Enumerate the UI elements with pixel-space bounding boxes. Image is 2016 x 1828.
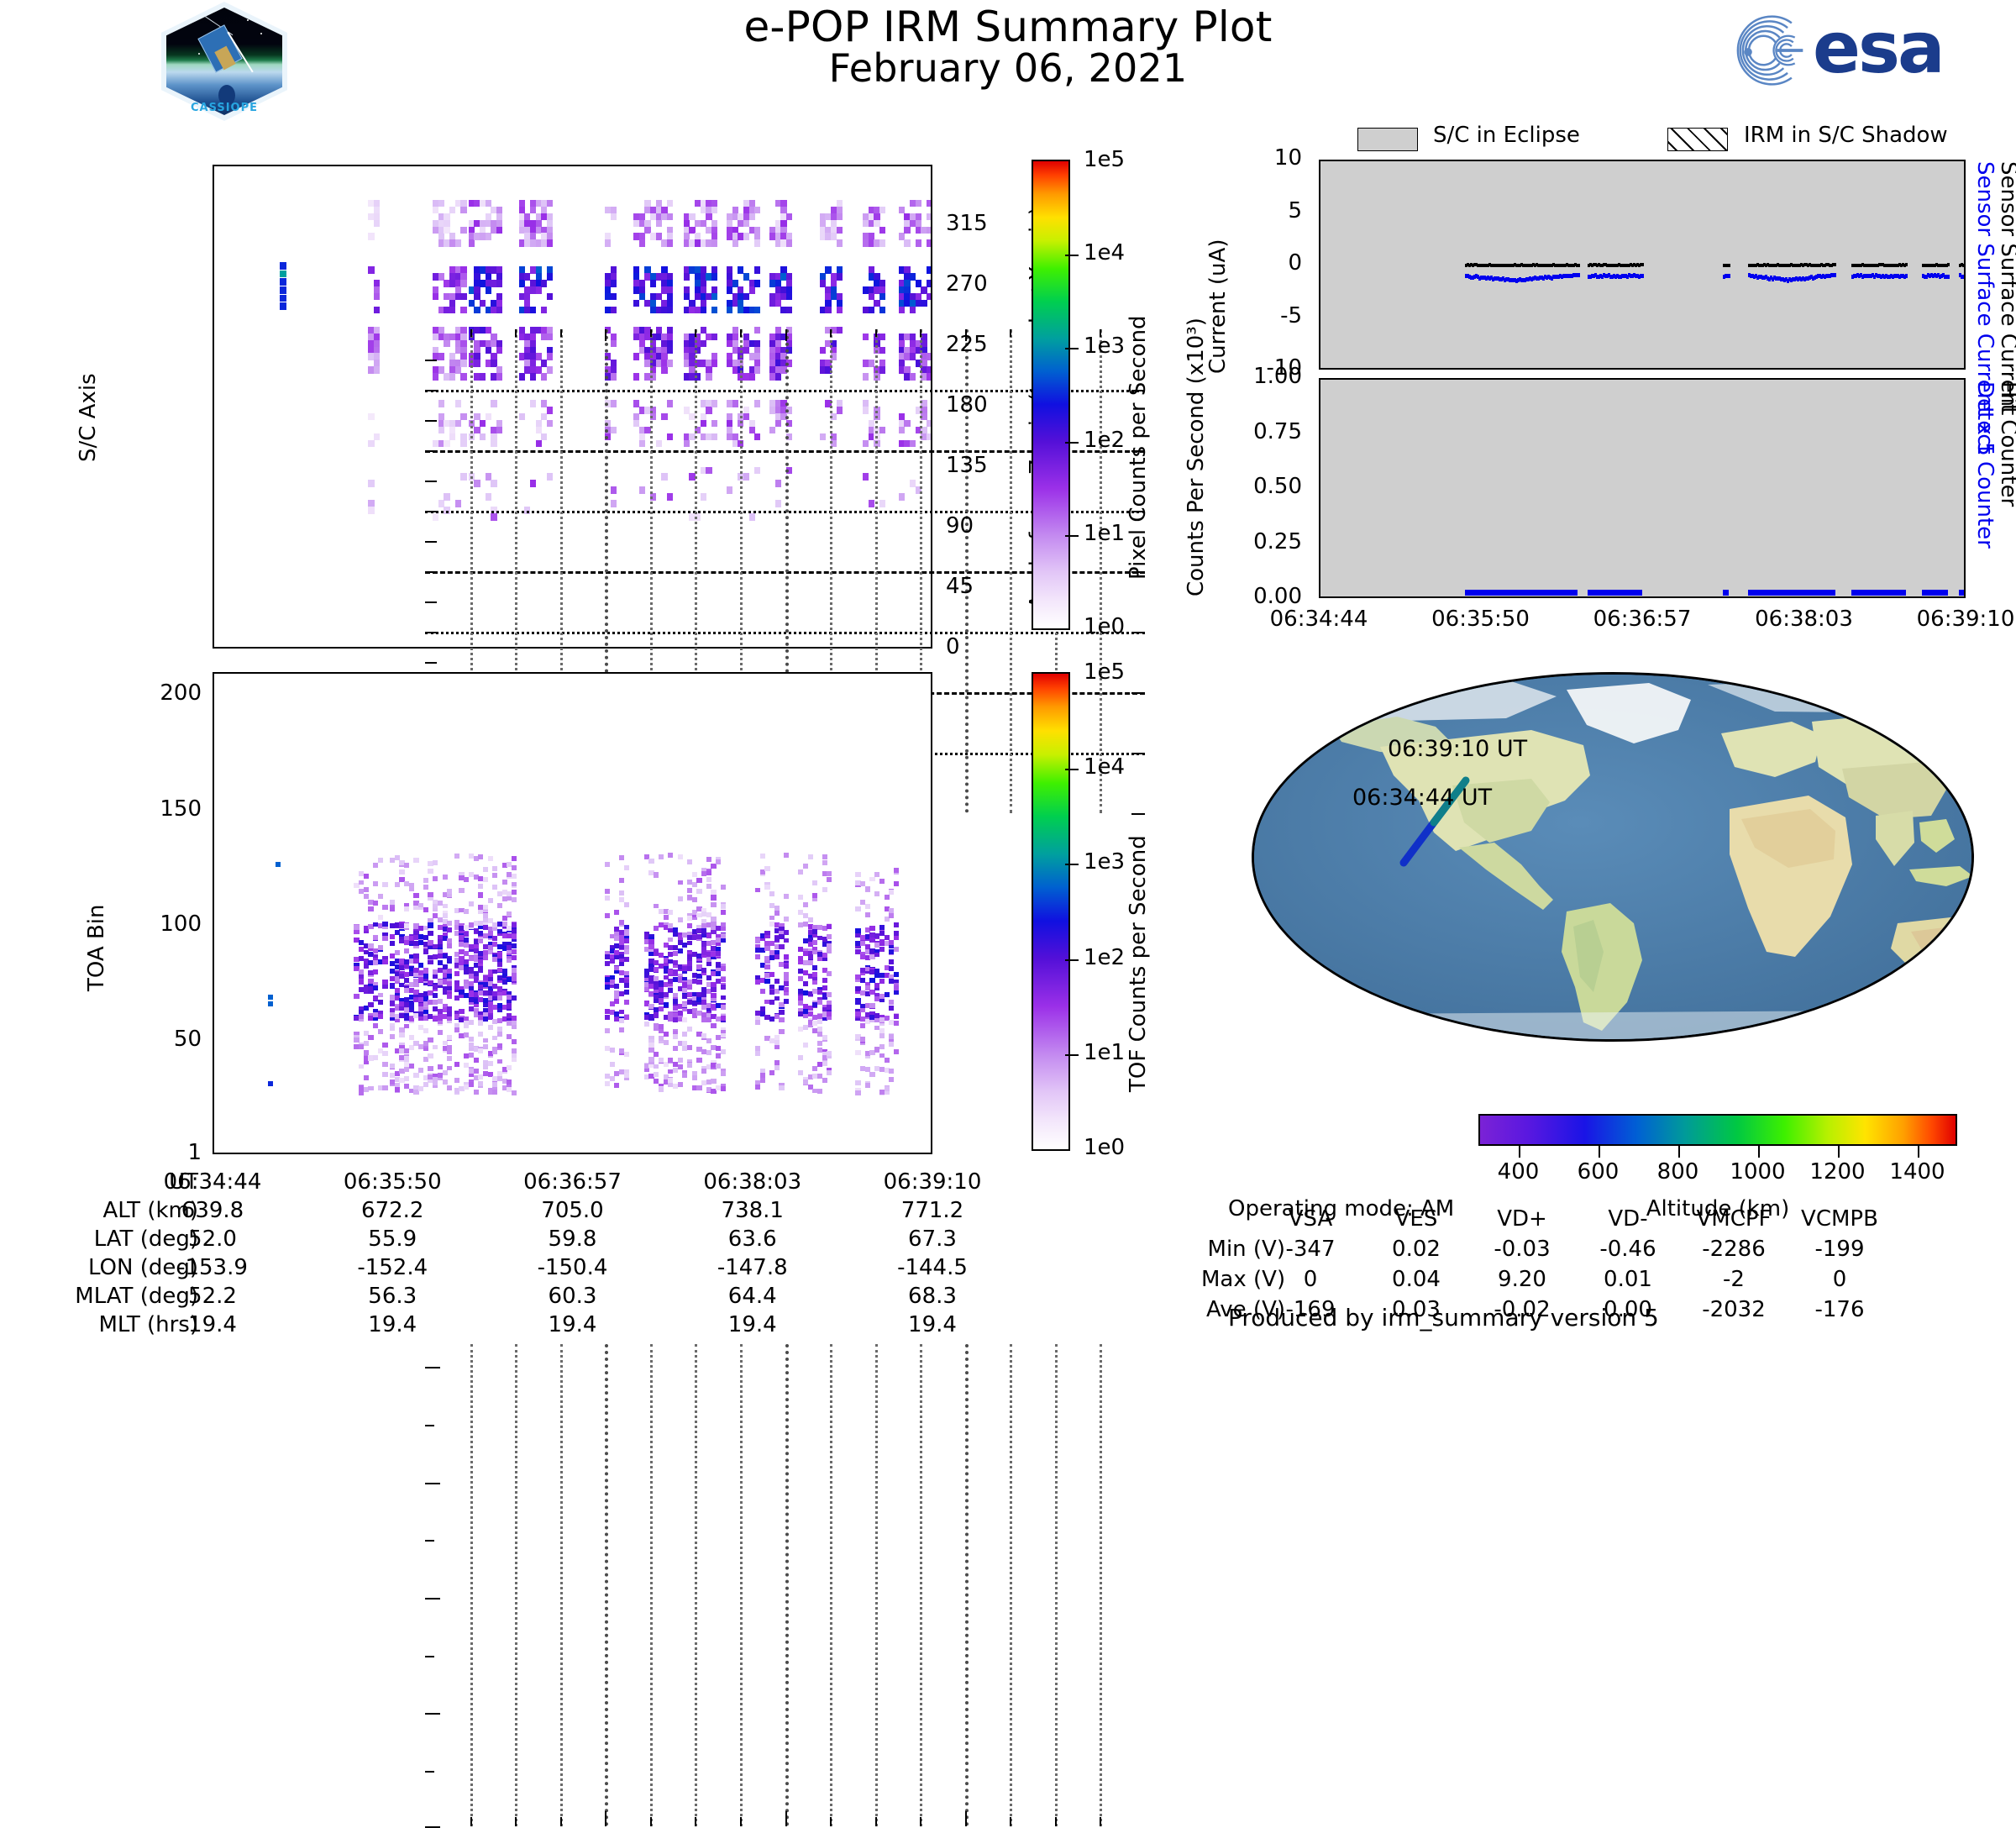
pixel-ytick-right-2: 225 <box>946 332 988 357</box>
ephemeris-cell: 64.4 <box>660 1284 845 1309</box>
colorbar-tick-3: 1e2 <box>1084 945 1125 970</box>
ground-track-map[interactable]: 06:39:10 UT 06:34:44 UT <box>1252 672 1974 1042</box>
ephemeris-cell: 06:36:57 <box>480 1169 665 1195</box>
ephemeris-cell: 63.6 <box>660 1227 845 1252</box>
world-map-svg <box>1254 675 1974 1042</box>
time-tick-4: 06:39:10 <box>1873 607 2016 632</box>
globe-projection <box>1252 672 1974 1042</box>
time-tick-0: 06:34:44 <box>1226 607 1411 632</box>
ephemeris-cell: -150.4 <box>480 1255 665 1280</box>
time-tick-1: 06:35:50 <box>1389 607 1573 632</box>
pixel-spectrogram-grid <box>213 165 932 649</box>
ytick: 0.50 <box>1176 474 1302 499</box>
ephemeris-cell: 55.9 <box>300 1227 485 1252</box>
ephemeris-cell: 06:35:50 <box>300 1169 485 1195</box>
ephemeris-cell: 60.3 <box>480 1284 665 1309</box>
toa-ytick-3: 50 <box>143 1027 202 1052</box>
current-traces <box>1320 161 1964 368</box>
current-black-point <box>1641 263 1644 266</box>
toa-colorbar-label: TOF Counts per Second <box>1126 739 1151 1092</box>
voltage-cell: 0 <box>1772 1267 1907 1292</box>
counts-right-label-blue: Detect Counter <box>1972 381 1998 549</box>
ephemeris-cell: 19.4 <box>480 1312 665 1337</box>
time-tick-3: 06:38:03 <box>1712 607 1897 632</box>
counts-blue-segment <box>1723 590 1730 596</box>
pixel-ytick-right-1: 270 <box>946 271 988 297</box>
toa-ytick-2: 100 <box>143 911 202 937</box>
esa-wordmark: esa <box>1813 12 1943 84</box>
ephemeris-cell: 06:39:10 <box>840 1169 1025 1195</box>
ephemeris-cell: 19.4 <box>300 1312 485 1337</box>
current-blue-point <box>1834 273 1836 277</box>
ephemeris-cell: 59.8 <box>480 1227 665 1252</box>
altitude-tick-5: 1400 <box>1859 1159 1977 1185</box>
title-date: February 06, 2021 <box>521 49 1495 89</box>
ephemeris-cell: 06:38:03 <box>660 1169 845 1195</box>
current-black-point <box>1834 263 1836 266</box>
current-blue-point <box>1641 274 1644 278</box>
ephemeris-cell: 56.3 <box>300 1284 485 1309</box>
page-title: e-POP IRM Summary Plot February 06, 2021 <box>521 5 1495 89</box>
ephemeris-cell: 19.4 <box>840 1312 1025 1337</box>
voltage-col-header: VCMPB <box>1772 1206 1907 1232</box>
ephemeris-cell: 738.1 <box>660 1198 845 1223</box>
counts-blue-segment <box>1959 590 1964 596</box>
current-right-label-black: Sensor Surface Current <box>1996 161 2016 363</box>
ytick: 0.25 <box>1176 529 1302 554</box>
time-tick-2: 06:36:57 <box>1550 607 1735 632</box>
current-black-point <box>1947 263 1950 266</box>
produced-by-text: Produced by irm_summary version 5 <box>1228 1304 1659 1332</box>
toa-ytick-4: 1 <box>143 1140 202 1165</box>
ephemeris-cell: -147.8 <box>660 1255 845 1280</box>
colorbar-tick-0: 1e5 <box>1084 147 1125 172</box>
ephemeris-cell: 52.0 <box>120 1227 305 1252</box>
ephemeris-cell: -144.5 <box>840 1255 1025 1280</box>
colorbar-tick-0: 1e5 <box>1084 659 1125 685</box>
ytick: 0 <box>1176 250 1302 276</box>
ephemeris-cell: 06:34:44 <box>120 1169 305 1195</box>
pixel-ytick-right-5: 90 <box>946 513 974 538</box>
ephemeris-cell: 639.8 <box>120 1198 305 1223</box>
pixel-panel-ylabel: S/C Axis <box>76 277 101 462</box>
map-label-start-time: 06:34:44 UT <box>1352 785 1492 811</box>
eclipse-legend-label: S/C in Eclipse <box>1433 123 1580 148</box>
ephemeris-cell: 19.4 <box>120 1312 305 1337</box>
pixel-ytick-right-6: 45 <box>946 574 974 599</box>
ytick: 0.00 <box>1176 584 1302 609</box>
ephemeris-cell: 67.3 <box>840 1227 1025 1252</box>
voltage-cell: -176 <box>1772 1297 1907 1322</box>
pixel-colorbar[interactable] <box>1032 160 1070 630</box>
current-blue-point <box>1905 274 1908 278</box>
title-main: e-POP IRM Summary Plot <box>521 5 1495 49</box>
shadow-legend-swatch <box>1667 128 1728 151</box>
ephemeris-cell: 705.0 <box>480 1198 665 1223</box>
pixel-ytick-right-0: 315 <box>946 211 988 236</box>
colorbar-tick-1: 1e4 <box>1084 754 1125 780</box>
ephemeris-cell: 52.2 <box>120 1284 305 1309</box>
ephemeris-cell: -152.4 <box>300 1255 485 1280</box>
current-black-point <box>1728 264 1730 267</box>
colorbar-tick-2: 1e3 <box>1084 334 1125 359</box>
toa-panel-ylabel: TOA Bin <box>84 857 109 991</box>
colorbar-tick-4: 1e1 <box>1084 521 1125 546</box>
ephemeris-cell: -153.9 <box>120 1255 305 1280</box>
counts-traces <box>1320 380 1964 596</box>
colorbar-tick-5: 1e0 <box>1084 1135 1125 1160</box>
ephemeris-cell: 771.2 <box>840 1198 1025 1223</box>
counts-blue-segment <box>1748 590 1835 596</box>
cassiope-logo-label: CASSIOPE <box>161 102 287 114</box>
ephemeris-cell: 68.3 <box>840 1284 1025 1309</box>
esa-emblem-icon <box>1729 10 1809 91</box>
pixel-ytick-right-7: 0 <box>946 634 960 659</box>
current-black-point <box>1905 263 1908 266</box>
colorbar-tick-2: 1e3 <box>1084 849 1125 875</box>
counts-blue-segment <box>1922 590 1948 596</box>
counts-blue-segment <box>1465 590 1578 596</box>
toa-spectrogram-grid <box>213 672 932 1154</box>
eclipse-legend-swatch <box>1357 128 1418 151</box>
ephemeris-cell: 672.2 <box>300 1198 485 1223</box>
counts-blue-segment <box>1851 590 1906 596</box>
map-label-end-time: 06:39:10 UT <box>1388 736 1527 762</box>
esa-logo: esa <box>1729 7 1981 97</box>
ytick: 5 <box>1176 198 1302 223</box>
pixel-ytick-right-4: 135 <box>946 453 988 478</box>
ytick: 10 <box>1176 145 1302 171</box>
toa-ytick-1: 150 <box>143 796 202 822</box>
voltage-cell: -199 <box>1772 1237 1907 1262</box>
altitude-colorbar[interactable] <box>1478 1114 1957 1146</box>
shadow-legend-label: IRM in S/C Shadow <box>1744 123 1948 148</box>
colorbar-tick-3: 1e2 <box>1084 428 1125 453</box>
colorbar-tick-5: 1e0 <box>1084 614 1125 639</box>
cassiope-mission-logo: CASSIOPE <box>161 2 287 121</box>
current-right-label-blue: Sensor Surface Current x 5 <box>1972 161 1998 363</box>
pixel-colorbar-label: Pixel Counts per Second <box>1126 227 1151 580</box>
toa-colorbar[interactable] <box>1032 672 1070 1151</box>
ephemeris-table: UT06:34:4406:35:5006:36:5706:38:0306:39:… <box>0 1169 991 1337</box>
toa-ytick-0: 200 <box>143 680 202 706</box>
colorbar-tick-1: 1e4 <box>1084 240 1125 265</box>
pixel-ytick-right-3: 180 <box>946 392 988 418</box>
current-blue-point <box>1578 273 1580 277</box>
colorbar-tick-4: 1e1 <box>1084 1040 1125 1065</box>
counts-right-label-black: Hit Counter <box>1996 381 2016 549</box>
current-blue-point <box>1947 275 1950 279</box>
ephemeris-cell: 19.4 <box>660 1312 845 1337</box>
counts-blue-segment <box>1588 590 1642 596</box>
ytick: 1.00 <box>1176 364 1302 389</box>
ytick: 0.75 <box>1176 419 1302 444</box>
current-blue-point <box>1728 274 1730 278</box>
current-black-point <box>1578 264 1580 267</box>
